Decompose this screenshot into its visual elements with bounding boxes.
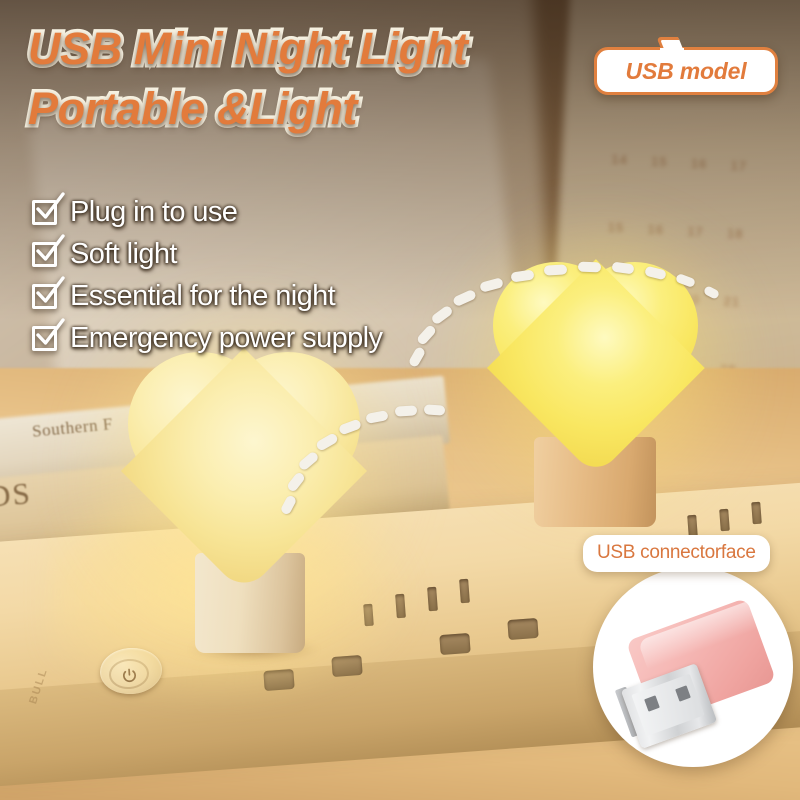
usb-connector-label: USB connectorface <box>583 535 770 572</box>
heart-night-light-left <box>128 352 360 584</box>
socket-outlet <box>439 633 470 655</box>
socket-outlet <box>263 669 294 691</box>
feature-list: Plug in to use Soft light Essential for … <box>32 196 382 355</box>
checkbox-checked-icon <box>32 284 57 309</box>
arc-dash <box>395 405 418 417</box>
arc-dash <box>544 264 567 275</box>
usb-model-badge-label: USB model <box>626 58 747 85</box>
book-spine-text: DS <box>0 475 33 515</box>
usb-connector-label-text: USB connectorface <box>597 542 756 563</box>
feature-item: Essential for the night <box>32 280 382 313</box>
badge-tail-mask <box>660 48 684 57</box>
usb-model-badge: USB model <box>594 47 778 95</box>
checkbox-checked-icon <box>32 200 57 225</box>
socket-slot <box>363 604 374 627</box>
socket-slot <box>395 594 406 619</box>
feature-label: Emergency power supply <box>70 322 382 355</box>
usb-connector-inset-photo <box>593 567 793 767</box>
socket-outlet <box>507 618 538 640</box>
socket-outlet <box>331 655 362 677</box>
socket-slot <box>459 579 470 604</box>
feature-item: Soft light <box>32 238 382 271</box>
arc-dash <box>578 262 601 273</box>
feature-item: Emergency power supply <box>32 322 382 355</box>
checkbox-checked-icon <box>32 242 57 267</box>
power-symbol-icon <box>120 667 138 685</box>
feature-label: Plug in to use <box>70 196 237 229</box>
arc-dash <box>424 404 446 415</box>
feature-item: Plug in to use <box>32 196 382 229</box>
feature-label: Soft light <box>70 238 177 271</box>
feature-label: Essential for the night <box>70 280 335 313</box>
product-banner: 14151617 15161718 18192021 25262728 Sout… <box>0 0 800 800</box>
socket-slot <box>427 587 438 612</box>
heart-night-light-right <box>493 262 698 467</box>
socket-slot <box>751 502 762 525</box>
socket-slot <box>719 508 730 531</box>
checkbox-checked-icon <box>32 326 57 351</box>
